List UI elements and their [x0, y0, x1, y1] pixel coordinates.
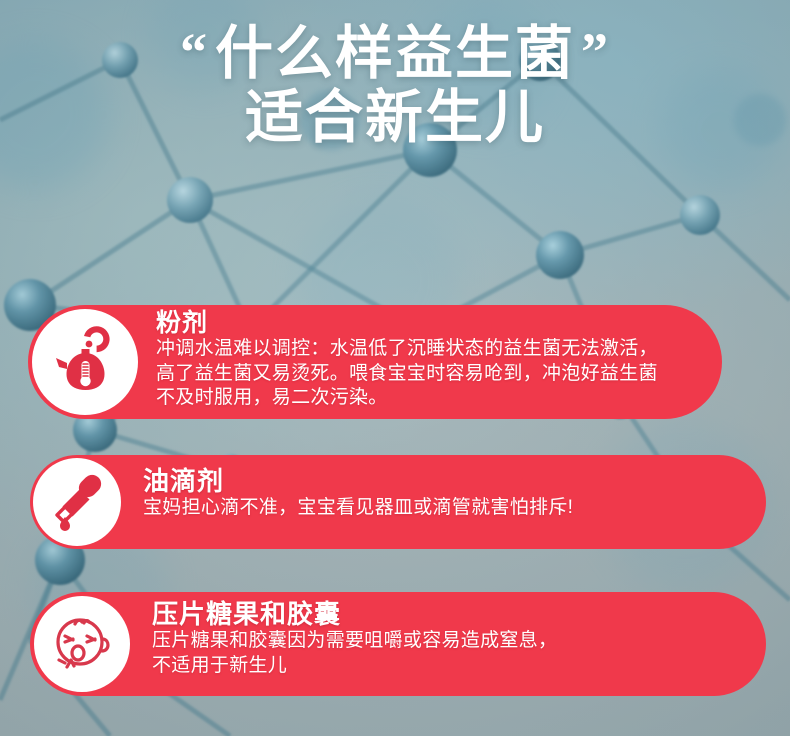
card-body-oil-drops: 宝妈担心滴不准，宝宝看见器皿或滴管就害怕排斥! [143, 496, 573, 521]
poster-title: “什么样益生菌” 适合新生儿 [0, 24, 790, 149]
card-text-oil-drops: 油滴剂 宝妈担心滴不准，宝宝看见器皿或滴管就害怕排斥! [121, 455, 573, 521]
quote-close-mark: ” [575, 22, 616, 82]
kettle-thermometer-icon [32, 309, 138, 415]
card-title-powder: 粉剂 [156, 309, 658, 337]
card-text-tablets-capsules: 压片糖果和胶囊 压片糖果和胶囊因为需要咀嚼或容易造成窒息， 不适用于新生儿 [130, 592, 557, 678]
info-card-tablets-capsules[interactable]: 压片糖果和胶囊 压片糖果和胶囊因为需要咀嚼或容易造成窒息， 不适用于新生儿 [30, 592, 766, 696]
info-card-oil-drops[interactable]: 油滴剂 宝妈担心滴不准，宝宝看见器皿或滴管就害怕排斥! [30, 455, 766, 549]
poster-root: “什么样益生菌” 适合新生儿 [0, 0, 790, 736]
info-card-powder[interactable]: 粉剂 冲调水温难以调控：水温低了沉睡状态的益生菌无法激活， 高了益生菌又易烫死。… [28, 305, 722, 419]
card-body-tablets-capsules: 压片糖果和胶囊因为需要咀嚼或容易造成窒息， 不适用于新生儿 [152, 629, 557, 678]
title-line-1: “什么样益生菌” [0, 24, 790, 84]
choking-baby-face-icon [34, 596, 130, 692]
dropper-icon [33, 458, 121, 546]
card-body-powder: 冲调水温难以调控：水温低了沉睡状态的益生菌无法激活， 高了益生菌又易烫死。喂食宝… [156, 337, 658, 411]
card-title-oil-drops: 油滴剂 [143, 467, 573, 496]
title-line-1-text: 什么样益生菌 [215, 21, 575, 86]
card-title-tablets-capsules: 压片糖果和胶囊 [152, 600, 557, 629]
quote-open-mark: “ [174, 22, 215, 82]
card-text-powder: 粉剂 冲调水温难以调控：水温低了沉睡状态的益生菌无法激活， 高了益生菌又易烫死。… [138, 305, 658, 411]
title-line-2: 适合新生儿 [0, 88, 790, 148]
